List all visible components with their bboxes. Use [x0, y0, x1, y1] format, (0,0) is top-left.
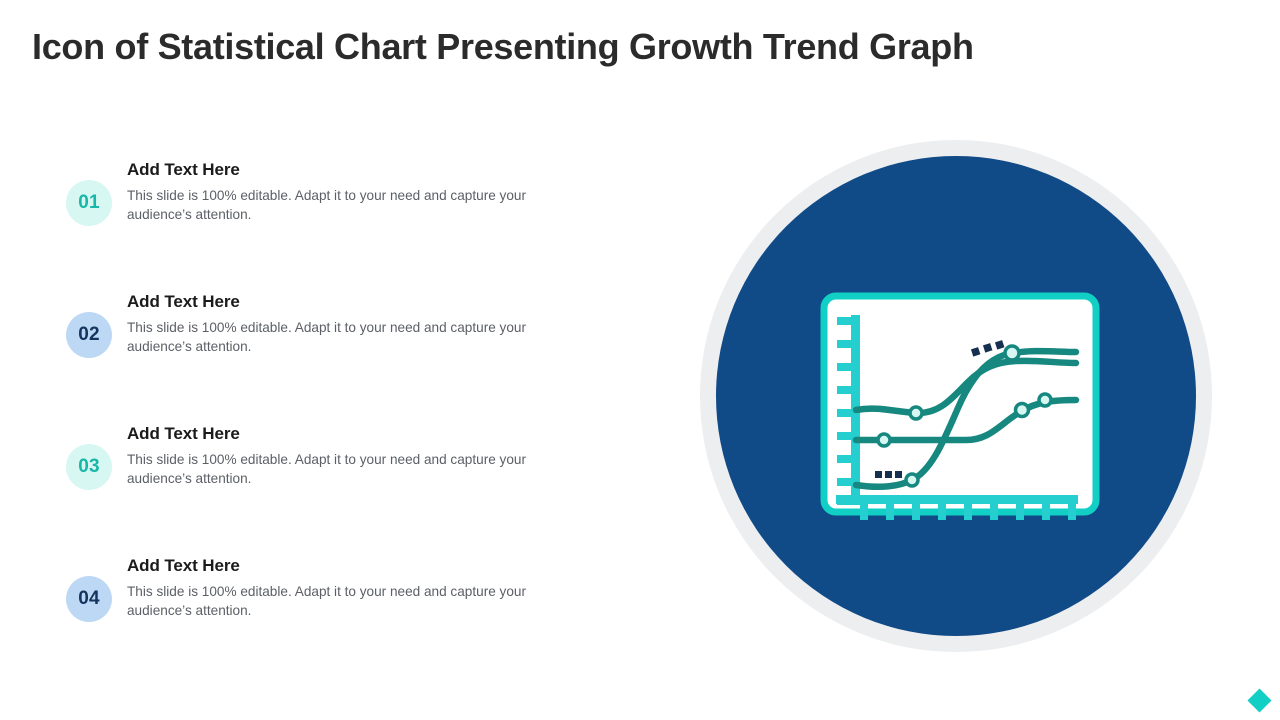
list-item-body: This slide is 100% editable. Adapt it to… — [127, 582, 567, 621]
number-badge-01: 01 — [66, 180, 112, 226]
list-item-text: Add Text Here This slide is 100% editabl… — [127, 292, 586, 357]
list-item-text: Add Text Here This slide is 100% editabl… — [127, 160, 586, 225]
list-item-text: Add Text Here This slide is 100% editabl… — [127, 556, 586, 621]
list-item[interactable]: 04 Add Text Here This slide is 100% edit… — [66, 556, 586, 621]
list-item-text: Add Text Here This slide is 100% editabl… — [127, 424, 586, 489]
annotation-dots-low — [875, 471, 902, 478]
number-badge-03: 03 — [66, 444, 112, 490]
number-badge-04: 04 — [66, 576, 112, 622]
list-item[interactable]: 01 Add Text Here This slide is 100% edit… — [66, 160, 586, 292]
page-title: Icon of Statistical Chart Presenting Gro… — [32, 26, 1232, 67]
list-item-body: This slide is 100% editable. Adapt it to… — [127, 318, 567, 357]
list-item-heading: Add Text Here — [127, 292, 586, 312]
statistical-chart-icon — [700, 140, 1212, 652]
growth-trend-graph-icon — [700, 140, 1212, 652]
list-item[interactable]: 03 Add Text Here This slide is 100% edit… — [66, 424, 586, 556]
list-item-heading: Add Text Here — [127, 160, 586, 180]
list-item-heading: Add Text Here — [127, 424, 586, 444]
number-badge-02: 02 — [66, 312, 112, 358]
diamond-accent-icon — [1247, 688, 1271, 712]
list-item[interactable]: 02 Add Text Here This slide is 100% edit… — [66, 292, 586, 424]
list-item-body: This slide is 100% editable. Adapt it to… — [127, 186, 567, 225]
list-item-body: This slide is 100% editable. Adapt it to… — [127, 450, 567, 489]
list-item-heading: Add Text Here — [127, 556, 586, 576]
bullet-list: 01 Add Text Here This slide is 100% edit… — [66, 160, 586, 621]
